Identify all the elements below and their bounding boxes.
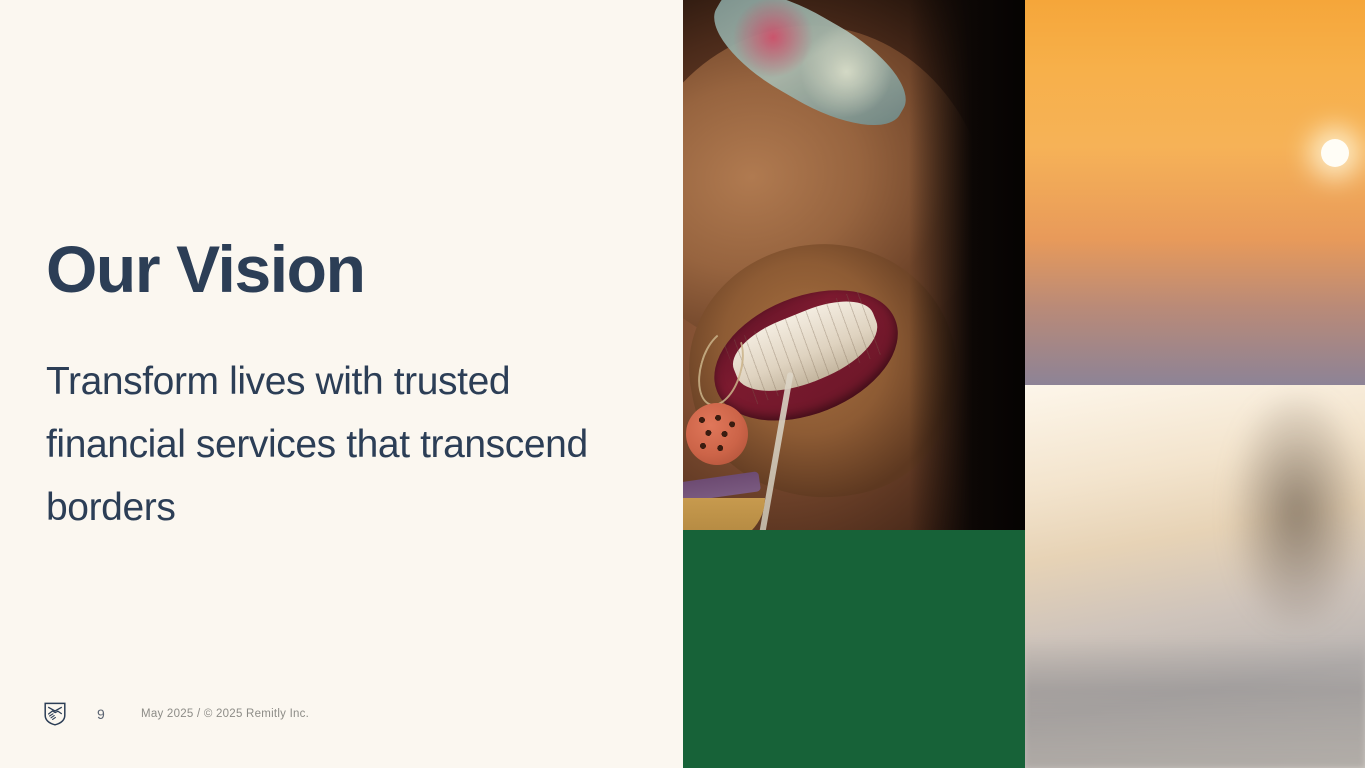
- page-number: 9: [97, 706, 105, 722]
- vision-statement: Transform lives with trusted financial s…: [46, 350, 646, 539]
- phone-background-shape: [1236, 400, 1358, 622]
- slide-our-vision: Our Vision Transform lives with trusted …: [0, 0, 1365, 768]
- remitly-shield-handshake-icon: [44, 702, 66, 726]
- textile-background: [683, 530, 1025, 768]
- portrait-earring-disc: [686, 403, 748, 465]
- phone-foreground-surface: [1025, 638, 1365, 768]
- laughing-woman-photo: [683, 0, 1025, 530]
- left-text-panel: Our Vision Transform lives with trusted …: [0, 0, 682, 768]
- hands-holding-smartphone-photo: [1025, 385, 1365, 768]
- new-delhi-street-sunset-photo: [1025, 0, 1365, 385]
- sun: [1321, 139, 1349, 167]
- footer: 9 May 2025 / © 2025 Remitly Inc.: [44, 702, 309, 726]
- footer-copyright: May 2025 / © 2025 Remitly Inc.: [141, 708, 309, 720]
- sunset-sky: [1025, 0, 1365, 385]
- woven-textile-pattern: [683, 530, 1025, 768]
- portrait-earring-base: [683, 498, 765, 530]
- image-grid: [682, 0, 1365, 768]
- page-title: Our Vision: [46, 236, 365, 304]
- portrait-shadow-right: [909, 0, 1025, 530]
